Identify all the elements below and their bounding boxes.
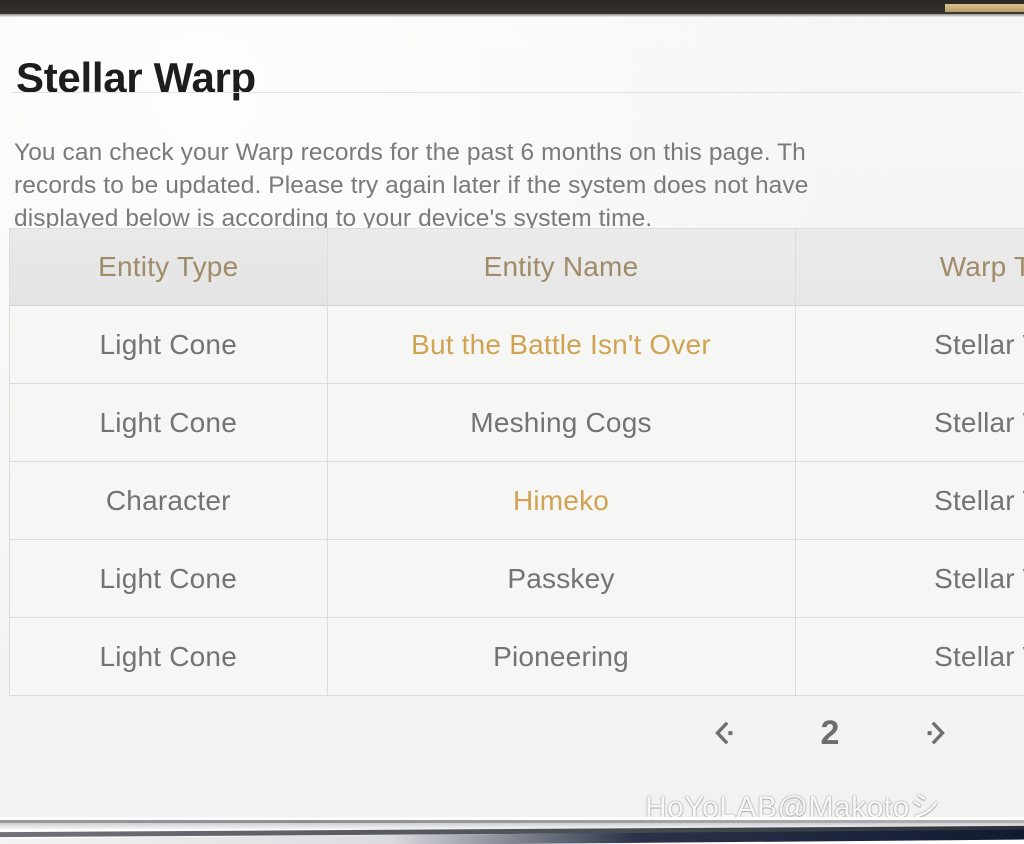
chevron-right-icon <box>920 716 954 750</box>
table-row[interactable]: Light Cone But the Battle Isn't Over Ste… <box>10 306 1024 384</box>
device-bottom-edge <box>0 817 1024 844</box>
top-status-bar <box>0 0 1024 14</box>
warp-records-page: Stellar Warp You can check your Warp rec… <box>0 17 1024 817</box>
cell-warp-type: Stellar W <box>795 306 1024 384</box>
cell-entity-type: Character <box>10 462 327 540</box>
warp-records-table-container: Entity Type Entity Name Warp Ty Light Co… <box>9 228 1024 696</box>
cell-entity-name: Himeko <box>327 462 795 540</box>
column-header-entity-name: Entity Name <box>327 229 795 306</box>
cell-entity-name: Pioneering <box>327 618 795 696</box>
table-header: Entity Type Entity Name Warp Ty <box>10 229 1024 306</box>
table-header-row: Entity Type Entity Name Warp Ty <box>10 229 1024 306</box>
cell-entity-name: Passkey <box>327 540 795 618</box>
cell-entity-name: But the Battle Isn't Over <box>327 306 795 384</box>
cell-entity-type: Light Cone <box>10 306 327 384</box>
cell-entity-type: Light Cone <box>10 618 327 696</box>
page-title: Stellar Warp <box>16 55 256 101</box>
table-row[interactable]: Light Cone Meshing Cogs Stellar W <box>10 384 1024 462</box>
next-page-button[interactable] <box>914 710 960 756</box>
cell-warp-type: Stellar W <box>795 618 1024 696</box>
table-row[interactable]: Character Himeko Stellar W <box>10 462 1024 540</box>
cell-warp-type: Stellar W <box>795 462 1024 540</box>
page-description: You can check your Warp records for the … <box>14 136 1024 238</box>
cell-warp-type: Stellar W <box>795 540 1024 618</box>
pagination: 2 <box>700 703 960 763</box>
chevron-left-icon <box>706 716 740 750</box>
warp-records-table: Entity Type Entity Name Warp Ty Light Co… <box>10 229 1024 696</box>
cell-entity-type: Light Cone <box>10 540 327 618</box>
table-row[interactable]: Light Cone Passkey Stellar W <box>10 540 1024 618</box>
previous-page-button[interactable] <box>700 710 746 756</box>
table-body: Light Cone But the Battle Isn't Over Ste… <box>10 306 1024 696</box>
title-divider <box>12 92 1022 93</box>
column-header-warp-type: Warp Ty <box>795 229 1024 306</box>
cell-warp-type: Stellar W <box>795 384 1024 462</box>
current-page-indicator: 2 <box>810 716 850 750</box>
table-row[interactable]: Light Cone Pioneering Stellar W <box>10 618 1024 696</box>
cell-entity-type: Light Cone <box>10 384 327 462</box>
column-header-entity-type: Entity Type <box>10 229 327 306</box>
top-bar-gold-accent <box>945 4 1024 12</box>
cell-entity-name: Meshing Cogs <box>327 384 795 462</box>
